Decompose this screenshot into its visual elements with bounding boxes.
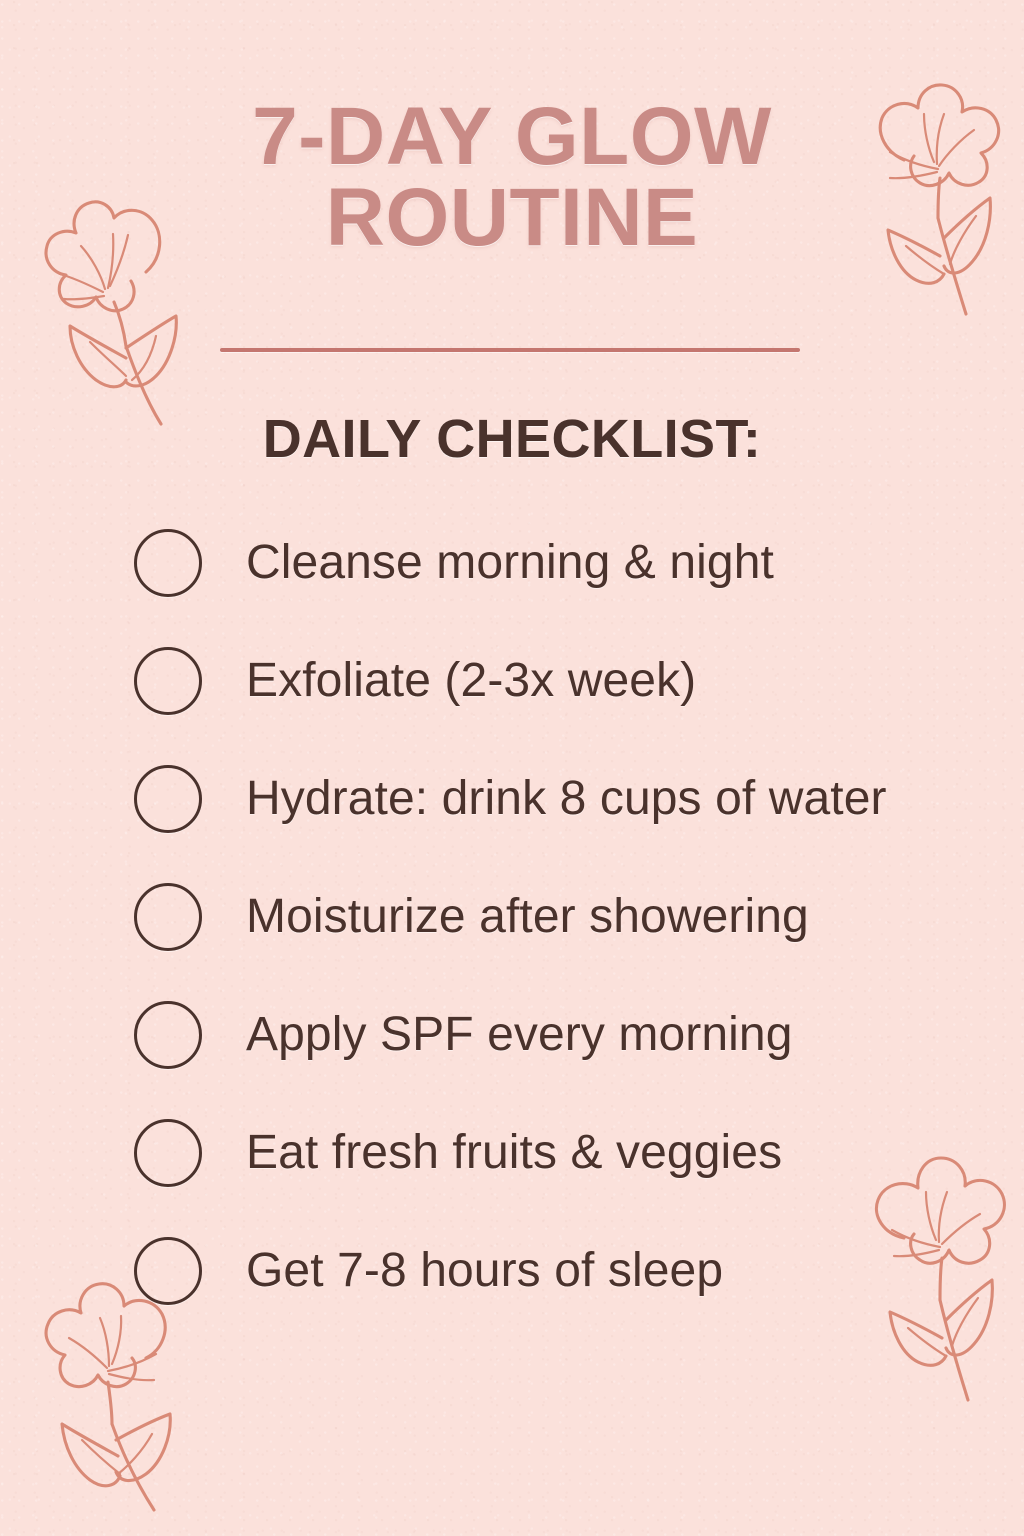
list-item-label: Apply SPF every morning [246, 1010, 793, 1060]
checkbox-circle-icon[interactable] [134, 529, 202, 597]
list-item[interactable]: Apply SPF every morning [134, 976, 990, 1094]
checkbox-circle-icon[interactable] [134, 1237, 202, 1305]
checkbox-circle-icon[interactable] [134, 1119, 202, 1187]
list-item-label: Hydrate: drink 8 cups of water [246, 774, 887, 824]
checkbox-circle-icon[interactable] [134, 1001, 202, 1069]
checkbox-circle-icon[interactable] [134, 883, 202, 951]
list-item[interactable]: Cleanse morning & night [134, 504, 990, 622]
list-item-label: Moisturize after showering [246, 892, 809, 942]
title-line-2: ROUTINE [0, 177, 1024, 258]
poster-canvas: 7-DAY GLOW ROUTINE DAILY CHECKLIST: Clea… [0, 0, 1024, 1536]
checklist: Cleanse morning & night Exfoliate (2-3x … [134, 504, 990, 1330]
list-item[interactable]: Exfoliate (2-3x week) [134, 622, 990, 740]
title-divider-rule [220, 348, 800, 352]
title-block: 7-DAY GLOW ROUTINE [0, 96, 1024, 258]
checkbox-circle-icon[interactable] [134, 647, 202, 715]
list-item[interactable]: Moisturize after showering [134, 858, 990, 976]
list-item[interactable]: Eat fresh fruits & veggies [134, 1094, 990, 1212]
list-item-label: Get 7-8 hours of sleep [246, 1246, 723, 1296]
list-item[interactable]: Hydrate: drink 8 cups of water [134, 740, 990, 858]
checklist-heading: DAILY CHECKLIST: [0, 408, 1024, 470]
title-line-1: 7-DAY GLOW [0, 96, 1024, 177]
list-item[interactable]: Get 7-8 hours of sleep [134, 1212, 990, 1330]
list-item-label: Eat fresh fruits & veggies [246, 1128, 782, 1178]
checkbox-circle-icon[interactable] [134, 765, 202, 833]
list-item-label: Exfoliate (2-3x week) [246, 656, 696, 706]
list-item-label: Cleanse morning & night [246, 538, 774, 588]
page-title: 7-DAY GLOW ROUTINE [0, 96, 1024, 258]
